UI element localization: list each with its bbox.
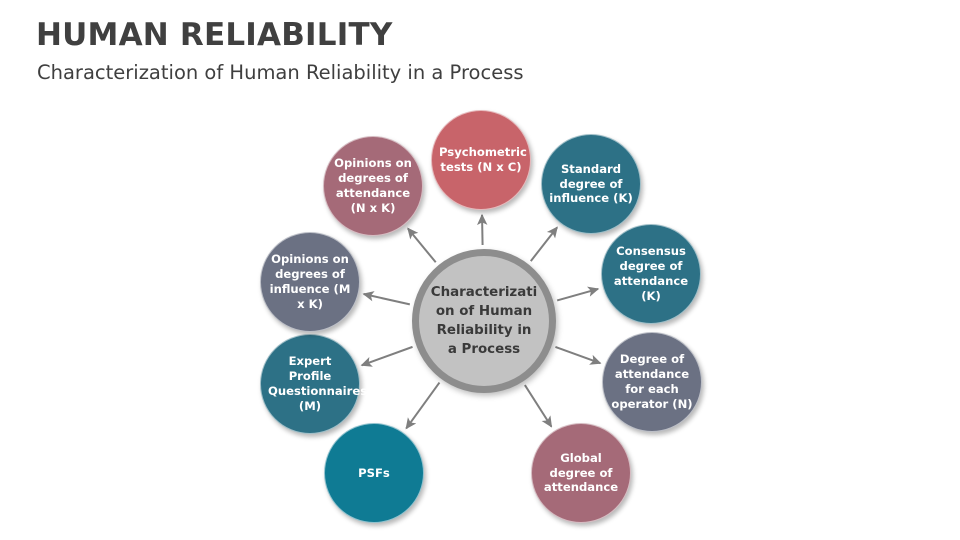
node-label: Psychometric tests (N x C) xyxy=(439,145,523,175)
node-center-characterization[interactable]: Characterizati on of Human Reliability i… xyxy=(412,249,556,393)
node-label: Standard degree of influence (K) xyxy=(549,162,633,206)
center-node-label: Characterizati on of Human Reliability i… xyxy=(431,283,537,359)
node-global-degree-of-attendance[interactable]: Global degree of attendance xyxy=(531,423,631,523)
connector-arrow-opinions-degrees-of-influence xyxy=(364,294,410,304)
node-label: Degree of attendance for each operator (… xyxy=(610,352,694,411)
node-consensus-degree-of-attendance[interactable]: Consensus degree of attendance (K) xyxy=(601,224,701,324)
connector-arrow-global-degree-of-attendance xyxy=(525,385,552,427)
node-label: Consensus degree of attendance (K) xyxy=(609,244,693,303)
slide-canvas: HUMAN RELIABILITY Characterization of Hu… xyxy=(0,0,960,540)
node-opinions-degrees-of-influence[interactable]: Opinions on degrees of influence (M x K) xyxy=(260,232,360,332)
connector-arrow-opinions-degrees-of-attendance xyxy=(408,228,436,262)
connector-arrow-psychometric-tests xyxy=(482,215,483,245)
connector-arrow-degree-of-attendance-per-operator xyxy=(555,347,600,363)
node-label: Expert Profile Questionnaires (M) xyxy=(268,354,352,413)
node-psychometric-tests[interactable]: Psychometric tests (N x C) xyxy=(431,110,531,210)
radial-cycle-diagram: Psychometric tests (N x C)Standard degre… xyxy=(0,0,960,540)
connector-arrow-standard-degree-of-influence xyxy=(531,227,557,261)
node-label: PSFs xyxy=(332,466,416,481)
connector-arrow-expert-profile-questionnaires xyxy=(362,347,413,365)
node-opinions-degrees-of-attendance[interactable]: Opinions on degrees of attendance (N x K… xyxy=(323,136,423,236)
connector-arrow-psfs xyxy=(406,383,439,429)
node-psfs[interactable]: PSFs xyxy=(324,423,424,523)
node-expert-profile-questionnaires[interactable]: Expert Profile Questionnaires (M) xyxy=(260,334,360,434)
connector-arrow-consensus-degree-of-attendance xyxy=(557,289,598,301)
node-label: Opinions on degrees of influence (M x K) xyxy=(268,252,352,311)
node-label: Opinions on degrees of attendance (N x K… xyxy=(331,156,415,215)
node-standard-degree-of-influence[interactable]: Standard degree of influence (K) xyxy=(541,134,641,234)
node-degree-of-attendance-per-operator[interactable]: Degree of attendance for each operator (… xyxy=(602,332,702,432)
node-label: Global degree of attendance xyxy=(539,451,623,495)
